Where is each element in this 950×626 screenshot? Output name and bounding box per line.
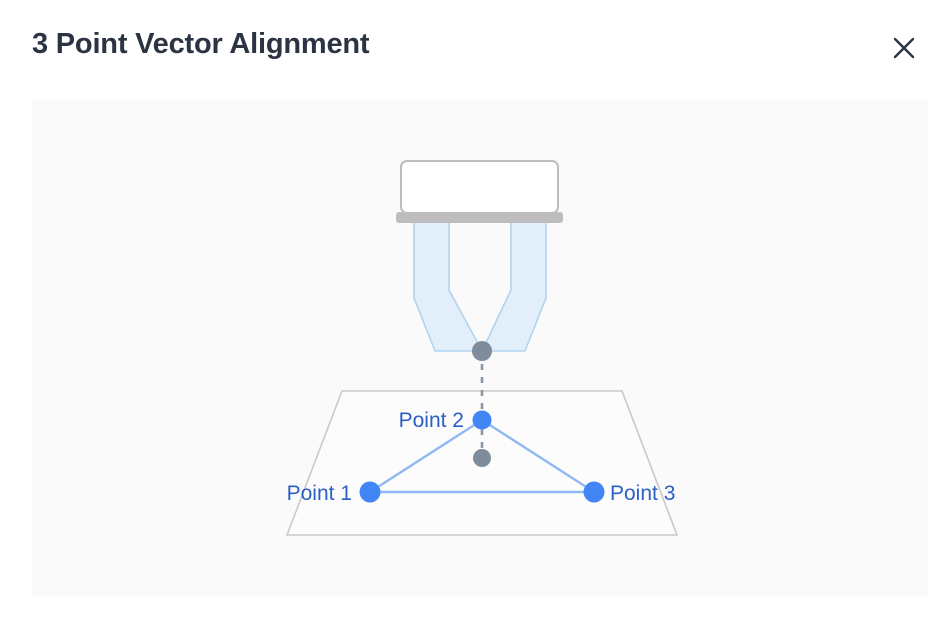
point-3-label: Point 3 xyxy=(610,482,675,505)
point-3-marker[interactable] xyxy=(584,482,605,503)
gripper-left-finger xyxy=(414,222,482,351)
plane-centroid-marker xyxy=(473,449,491,467)
three-point-vector-alignment-diagram: Point 2 Point 1 Point 3 xyxy=(32,100,928,596)
gripper-body xyxy=(401,161,558,213)
point-1-label: Point 1 xyxy=(287,482,352,505)
point-2-marker[interactable] xyxy=(473,411,492,430)
point-1-marker[interactable] xyxy=(360,482,381,503)
close-button[interactable] xyxy=(884,28,924,68)
page-title: 3 Point Vector Alignment xyxy=(32,28,369,61)
modal-dialog: 3 Point Vector Alignment xyxy=(0,0,950,626)
close-icon xyxy=(891,35,917,61)
tool-center-point-marker xyxy=(472,341,492,361)
modal-header: 3 Point Vector Alignment xyxy=(0,0,950,100)
gripper-right-finger xyxy=(482,222,546,351)
diagram-panel: Point 2 Point 1 Point 3 xyxy=(32,100,928,596)
point-2-label: Point 2 xyxy=(399,409,464,432)
